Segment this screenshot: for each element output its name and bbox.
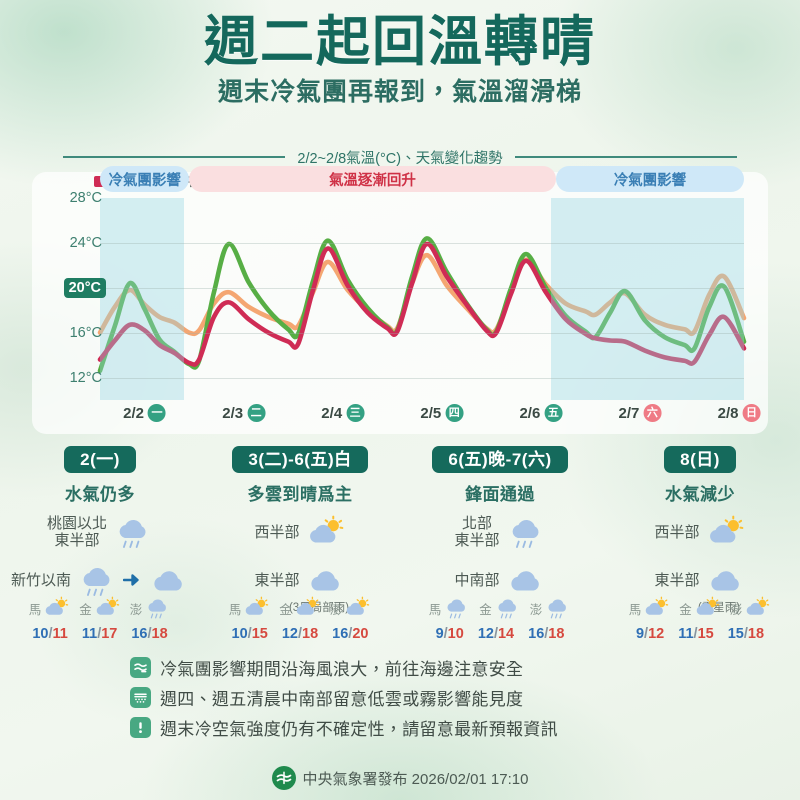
region-label: 西半部 [254,524,299,541]
forecast-row-2: 中南部 [400,559,600,601]
sun-behind-cloud-icon [94,596,121,620]
rain-cloud-icon [144,596,171,620]
island-name: 馬 [229,599,242,618]
advisory-note-1: 冷氣團影響期間沿海風浪大，前往海邊注意安全 [130,652,690,682]
rain-cloud-icon [113,515,153,550]
island-temp: 10/11 [32,626,68,642]
exclamation-icon [130,717,151,738]
cloud-icon [149,563,189,598]
gridline [100,333,744,334]
island-金: 金 [479,596,521,620]
island-name: 澎 [730,599,743,618]
x-axis-tick-2-6: 2/6五 [519,404,562,422]
sun-behind-cloud-icon [744,596,771,620]
x-axis-tick-2-3: 2/3二 [222,404,265,422]
day-of-week-badge: 一 [148,404,166,422]
island-temp: 11/15 [678,626,714,642]
island-name: 馬 [29,599,42,618]
island-name: 馬 [629,599,642,618]
island-temp: 12/14 [478,626,514,642]
gridline [100,288,744,289]
day-of-week-badge: 四 [445,404,463,422]
x-axis-tick-2-7: 2/7六 [619,404,662,422]
day-panel-header: 3(二)-6(五)白 [232,446,367,473]
chart-plot-area: 28°C24°C20°C16°C12°C [100,198,744,400]
rain-cloud-icon [494,596,521,620]
day-of-week-badge: 二 [247,404,265,422]
island-temp: 16/18 [528,626,564,642]
x-axis-tick-2-5: 2/5四 [420,404,463,422]
forecast-row-2: 東半部 [200,559,400,601]
region-label: 新竹以南 [11,572,71,589]
page-subtitle: 週末冷氣團再報到，氣溫溜滑梯 [0,79,800,107]
x-axis-tick-2-8: 2/8日 [718,404,761,422]
y-axis-label-24: 24°C [42,235,102,251]
island-name: 澎 [530,599,543,618]
island-金: 金 [79,596,121,620]
page-title: 週二起回溫轉晴 [0,14,800,71]
region-label: 東半部 [654,572,699,589]
island-馬: 馬 [629,596,671,620]
cold-shading-region-2 [551,198,744,400]
island-馬: 馬 [229,596,271,620]
sun-behind-cloud-icon [243,596,270,620]
advisory-note-text: 週四、週五清晨中南部留意低雲或霧影響能見度 [160,685,523,710]
day-panel-summary: 水氣減少 [600,480,800,505]
region-label: 桃園以北東半部 [47,515,107,550]
island-temperature-row: 9/1012/1416/18 [400,626,600,642]
x-axis-date: 2/7 [619,405,640,422]
island-temp: 16/20 [332,626,368,642]
forecast-row-1: 北部東半部 [400,511,600,553]
sun-behind-cloud-icon [706,515,746,550]
forecast-row-2: 東半部 [600,559,800,601]
band-label-2: 氣溫逐漸回升 [189,166,556,192]
island-temperature-row: 10/1111/1716/18 [0,626,200,642]
island-澎: 澎 [530,596,572,620]
island-金: 金 [679,596,721,620]
day-panel-summary: 鋒面通過 [400,480,600,505]
cloud-icon [306,563,346,598]
day-panel-header: 2(一) [64,446,136,473]
island-forecast-row: 馬 金 澎 [600,596,800,620]
island-name: 金 [279,599,292,618]
advisory-note-2: 週四、週五清晨中南部留意低雲或霧影響能見度 [130,682,690,712]
sun-behind-cloud-icon [344,596,371,620]
x-axis-date: 2/6 [519,405,540,422]
x-axis-date: 2/4 [321,405,342,422]
region-label: 北部東半部 [454,515,499,550]
forecast-row-1: 西半部 [600,511,800,553]
region-label: 中南部 [454,572,499,589]
x-axis-tick-2-2: 2/2一 [123,404,166,422]
y-axis-label-28: 28°C [42,190,102,206]
island-name: 金 [79,599,92,618]
island-馬: 馬 [429,596,471,620]
infographic-page: 週二起回溫轉晴 週末冷氣團再報到，氣溫溜滑梯 2/2~2/8氣溫(°C)、天氣變… [0,0,800,800]
header: 週二起回溫轉晴 週末冷氣團再報到，氣溫溜滑梯 [0,14,800,106]
x-axis-date: 2/2 [123,405,144,422]
island-temp: 9/10 [436,626,464,642]
advisory-note-text: 週末冷空氣強度仍有不確定性，請留意最新預報資訊 [160,715,558,740]
y-axis-label-12: 12°C [42,370,102,386]
wave-icon [130,657,151,678]
chart-band-labels: 冷氣團影響氣溫逐漸回升冷氣團影響 [100,166,744,192]
day-panel-2: 3(二)-6(五)白多雲到晴爲主西半部 東半部 (3日局部雨)馬 [200,446,400,642]
rain-cloud-icon [77,563,117,598]
day-panel-summary: 多雲到晴爲主 [200,480,400,505]
caption-rule-left [63,156,285,158]
island-temp: 10/15 [232,626,268,642]
island-temperature-row: 10/1512/1816/20 [200,626,400,642]
island-temp: 11/17 [82,626,118,642]
rain-cloud-icon [544,596,571,620]
y-axis-label-20: 20°C [64,278,106,298]
day-panel-summary: 水氣仍多 [0,480,200,505]
island-temp: 16/18 [131,626,167,642]
forecast-row-1: 桃園以北東半部 [0,511,200,553]
island-forecast-row: 馬 金 澎 [400,596,600,620]
island-forecast-row: 馬 金 澎 [0,596,200,620]
region-label: 西半部 [654,524,699,541]
advisory-notes: 冷氣團影響期間沿海風浪大，前往海邊注意安全 週四、週五清晨中南部留意低雲或霧影響… [130,652,690,742]
island-馬: 馬 [29,596,71,620]
day-of-week-badge: 五 [544,404,562,422]
sun-behind-cloud-icon [694,596,721,620]
x-axis-tick-2-4: 2/4三 [321,404,364,422]
day-panel-header: 8(日) [664,446,736,473]
day-of-week-badge: 日 [742,404,760,422]
day-panel-1: 2(一)水氣仍多桃園以北東半部 新竹以南 馬 [0,446,200,642]
gridline [100,243,744,244]
island-temperature-row: 9/1211/1515/18 [600,626,800,642]
caption-rule-right [515,156,737,158]
day-panel-4: 8(日)水氣減少西半部 東半部 (零星雨)馬 [600,446,800,642]
y-axis-label-16: 16°C [42,325,102,341]
x-axis-date: 2/8 [718,405,739,422]
island-name: 馬 [429,599,442,618]
island-澎: 澎 [130,596,172,620]
chart-x-axis: 2/2一2/3二2/4三2/5四2/6五2/7六2/8日 [100,404,744,428]
island-temp: 9/12 [636,626,664,642]
cloud-icon [506,563,546,598]
footer: 中央氣象署發布 2026/02/01 17:10 [0,766,800,790]
island-name: 金 [479,599,492,618]
band-label-3: 冷氣團影響 [556,166,744,192]
rain-cloud-icon [506,515,546,550]
chart-caption: 2/2~2/8氣溫(°C)、天氣變化趨勢 [297,147,502,168]
region-label: 東半部 [254,572,299,589]
island-temp: 15/18 [728,626,764,642]
forecast-row-1: 西半部 [200,511,400,553]
day-of-week-badge: 六 [643,404,661,422]
sun-behind-cloud-icon [294,596,321,620]
temperature-chart: 北/宜中/南花/東 冷氣團影響氣溫逐漸回升冷氣團影響 28°C24°C20°C1… [32,172,768,434]
island-澎: 澎 [330,596,372,620]
island-name: 金 [679,599,692,618]
caption-row: 2/2~2/8氣溫(°C)、天氣變化趨勢 [0,146,800,168]
day-panel-header: 6(五)晚-7(六) [432,446,567,473]
advisory-note-text: 冷氣團影響期間沿海風浪大，前往海邊注意安全 [160,655,523,680]
sun-behind-cloud-icon [643,596,670,620]
footer-text: 中央氣象署發布 2026/02/01 17:10 [303,768,529,789]
band-label-1: 冷氣團影響 [100,166,189,192]
x-axis-date: 2/3 [222,405,243,422]
rain-cloud-icon [443,596,470,620]
cloud-icon [706,563,746,598]
gridline [100,378,744,379]
island-forecast-row: 馬 金 澎 [200,596,400,620]
day-panels: 2(一)水氣仍多桃園以北東半部 新竹以南 馬 [0,446,800,642]
forecast-row-2: 新竹以南 [0,559,200,601]
island-name: 澎 [130,599,143,618]
arrow-right-icon [123,572,143,588]
island-澎: 澎 [730,596,772,620]
island-name: 澎 [330,599,343,618]
day-of-week-badge: 三 [346,404,364,422]
x-axis-date: 2/5 [420,405,441,422]
sun-behind-cloud-icon [306,515,346,550]
cold-shading-region-1 [100,198,184,400]
day-panel-3: 6(五)晚-7(六)鋒面通過北部東半部 中南部 馬 金 澎 [400,446,600,642]
island-金: 金 [279,596,321,620]
advisory-note-3: 週末冷空氣強度仍有不確定性，請留意最新預報資訊 [130,712,690,742]
fog-icon [130,687,151,708]
island-temp: 12/18 [282,626,318,642]
sun-behind-cloud-icon [43,596,70,620]
cwa-logo-icon [272,766,296,790]
